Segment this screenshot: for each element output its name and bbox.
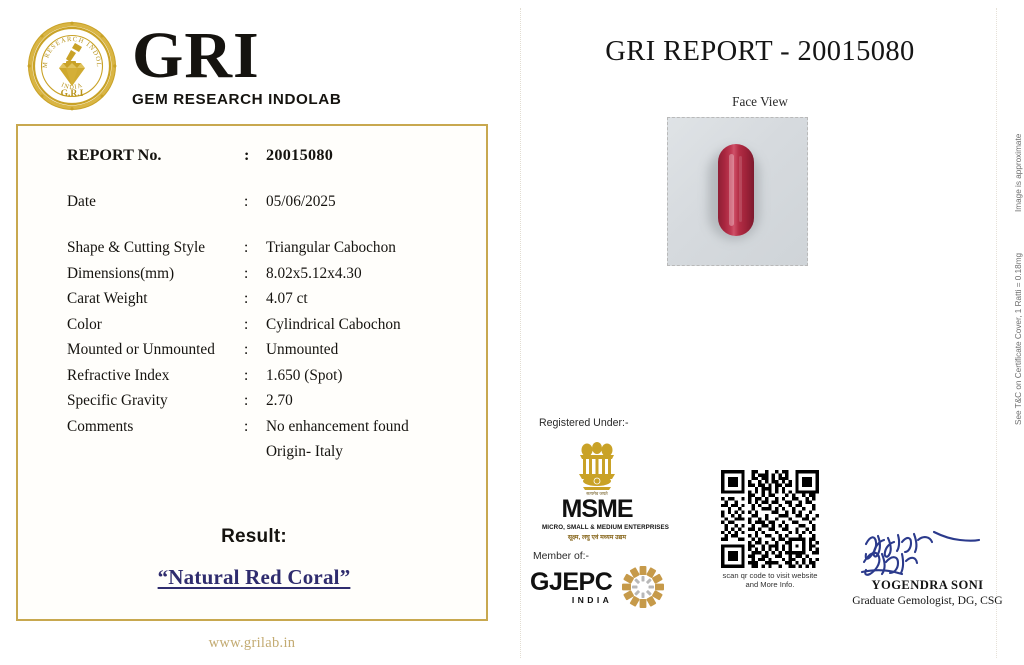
row-label: Color	[67, 316, 244, 334]
row-value: 05/06/2025	[266, 193, 467, 211]
table-row: Shape & Cutting Style : Triangular Caboc…	[67, 239, 467, 257]
signer-title: Graduate Gemologist, DG, CSG	[840, 594, 1015, 607]
table-row: Color : Cylindrical Cabochon	[67, 316, 467, 334]
handwritten-signature-icon	[858, 528, 998, 580]
row-label: Dimensions(mm)	[67, 265, 244, 283]
result-label: Result:	[18, 526, 490, 548]
row-value: 1.650 (Spot)	[266, 367, 467, 385]
table-row: Carat Weight : 4.07 ct	[67, 290, 467, 308]
row-colon: :	[244, 265, 266, 283]
gem-photo	[667, 117, 808, 266]
qr-caption-line2: and More Info.	[718, 580, 822, 589]
row-label: Refractive Index	[67, 367, 244, 385]
side-note-terms: See T&C on Certificate Cover, 1 Ratti = …	[1014, 253, 1023, 425]
signer-name: YOGENDRA SONI	[840, 578, 1015, 593]
row-colon: :	[244, 239, 266, 257]
row-colon: :	[244, 290, 266, 308]
table-row: REPORT No. : 20015080	[67, 146, 467, 165]
msme-logo: सत्यमेव जयते MSME MICRO, SMALL & MEDIUM …	[542, 436, 652, 541]
photo-caption: Face View	[520, 94, 1000, 110]
gjepc-logo: GJEPC INDIA	[530, 564, 666, 610]
signature-block: YOGENDRA SONI Graduate Gemologist, DG, C…	[840, 528, 1015, 607]
msme-wordmark: MSME	[542, 497, 652, 522]
result-section: Result: “Natural Red Coral”	[18, 526, 490, 590]
row-colon: :	[244, 418, 266, 436]
gem-coral-cabochon	[718, 144, 754, 236]
brand-wordmark: GRI GEM RESEARCH INDOLAB	[132, 25, 341, 108]
row-label: Carat Weight	[67, 290, 244, 308]
qr-caption-line1: scan qr code to visit website	[718, 571, 822, 580]
row-label: Date	[67, 193, 244, 211]
qr-code-icon[interactable]	[718, 470, 822, 568]
row-value: No enhancement found	[266, 418, 467, 436]
table-row: Dimensions(mm) : 8.02x5.12x4.30	[67, 265, 467, 283]
row-value: 2.70	[266, 392, 467, 410]
row-value: 8.02x5.12x4.30	[266, 265, 467, 283]
table-row-continuation: : Origin- Italy	[67, 443, 467, 461]
row-colon: :	[244, 146, 266, 165]
website-url[interactable]: www.grilab.in	[16, 635, 488, 652]
gjepc-sunburst-icon	[620, 564, 666, 610]
side-note-image-approximate: Image is approximate	[1014, 134, 1023, 212]
gri-seal-icon: GEM RESEARCH INDOLAB INDIA	[26, 20, 118, 112]
msme-expansion: MICRO, SMALL & MEDIUM ENTERPRISES	[542, 524, 652, 531]
page-title: GRI REPORT - 20015080	[520, 36, 1000, 68]
row-colon: :	[244, 392, 266, 410]
qr-section[interactable]: scan qr code to visit website and More I…	[718, 470, 822, 590]
row-colon: :	[244, 193, 266, 211]
gjepc-text: GJEPC INDIA	[530, 570, 612, 605]
row-label: Comments	[67, 418, 244, 436]
report-details-box: REPORT No. : 20015080 Date : 05/06/2025 …	[16, 124, 488, 621]
row-label: Specific Gravity	[67, 392, 244, 410]
table-row: Comments : No enhancement found	[67, 418, 467, 436]
registered-under-label: Registered Under:-	[539, 417, 629, 429]
row-value: Triangular Cabochon	[266, 239, 467, 257]
table-row: Date : 05/06/2025	[67, 193, 467, 211]
row-value: Unmounted	[266, 341, 467, 359]
member-of-label: Member of:-	[533, 551, 589, 562]
svg-text:G.R.I: G.R.I	[61, 89, 84, 99]
table-row: Specific Gravity : 2.70	[67, 392, 467, 410]
gjepc-wordmark: GJEPC	[530, 570, 612, 595]
row-colon: :	[244, 341, 266, 359]
msme-hindi-text: सूक्ष्म, लघु एवं मध्यम उद्यम	[542, 532, 652, 541]
table-row: Mounted or Unmounted : Unmounted	[67, 341, 467, 359]
row-value: Cylindrical Cabochon	[266, 316, 467, 334]
row-value: 4.07 ct	[266, 290, 467, 308]
result-value: “Natural Red Coral”	[18, 565, 490, 590]
gjepc-country: INDIA	[530, 596, 612, 605]
report-details-table: REPORT No. : 20015080 Date : 05/06/2025 …	[67, 146, 467, 461]
row-colon: :	[244, 367, 266, 385]
row-label: REPORT No.	[67, 146, 244, 165]
brand-header: GEM RESEARCH INDOLAB INDIA	[26, 18, 496, 114]
brand-full-name: GEM RESEARCH INDOLAB	[132, 92, 341, 107]
brand-acronym: GRI	[132, 25, 260, 88]
qr-caption: scan qr code to visit website and More I…	[718, 571, 822, 590]
table-row: Refractive Index : 1.650 (Spot)	[67, 367, 467, 385]
row-value: 20015080	[266, 146, 467, 165]
row-label: Mounted or Unmounted	[67, 341, 244, 359]
right-panel: GRI REPORT - 20015080 Face View Register…	[520, 0, 1024, 665]
row-value: Origin- Italy	[266, 443, 467, 461]
row-label: Shape & Cutting Style	[67, 239, 244, 257]
ashoka-emblem-icon: सत्यमेव जयते	[571, 436, 623, 496]
left-panel: GEM RESEARCH INDOLAB INDIA	[0, 0, 520, 665]
row-colon: :	[244, 316, 266, 334]
